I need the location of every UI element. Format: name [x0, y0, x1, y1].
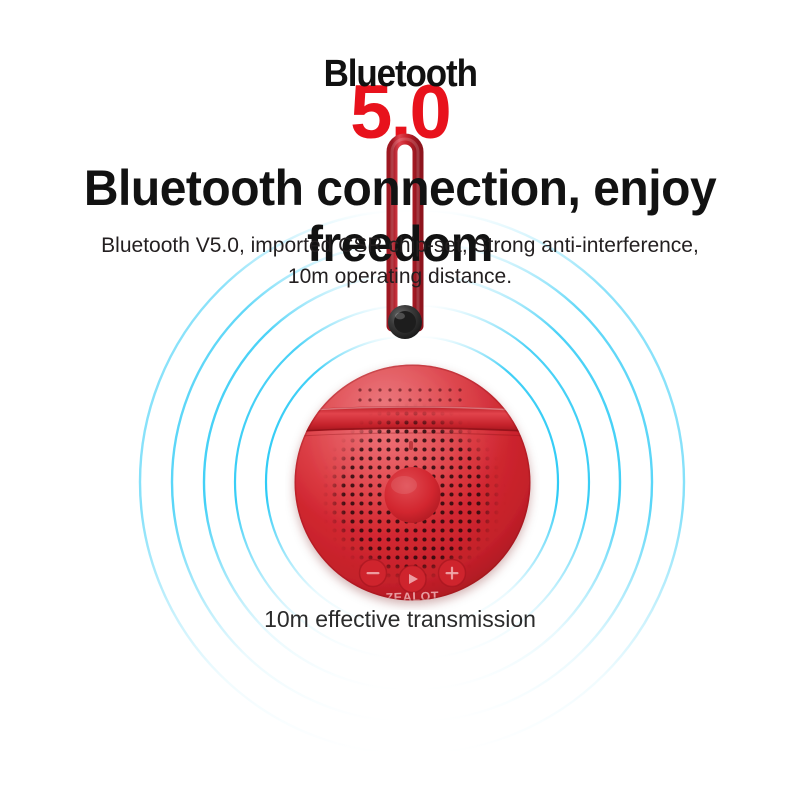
volume-up-button[interactable]	[439, 560, 466, 587]
marketing-banner: 5.0 Bluetooth Bluetooth connection, enj	[0, 0, 800, 800]
speaker-dome-glint	[391, 476, 417, 494]
page-subtitle: Bluetooth V5.0, imported CSR chip-set, S…	[100, 230, 700, 292]
volume-down-button[interactable]	[360, 560, 387, 587]
subtitle-line-2: 10m operating distance.	[100, 261, 700, 292]
transmission-caption: 10m effective transmission	[0, 604, 800, 634]
brand-logo: ZEALOT	[385, 589, 439, 605]
bluetooth-speaker-product: ZEALOT	[285, 355, 540, 610]
lanyard-bead-glint	[395, 313, 405, 320]
subtitle-line-1: Bluetooth V5.0, imported CSR chip-set, S…	[100, 230, 700, 261]
play-button[interactable]	[399, 566, 426, 593]
speaker-center-dome	[385, 467, 441, 523]
plus-icon-v	[451, 567, 453, 580]
minus-icon	[367, 572, 380, 574]
